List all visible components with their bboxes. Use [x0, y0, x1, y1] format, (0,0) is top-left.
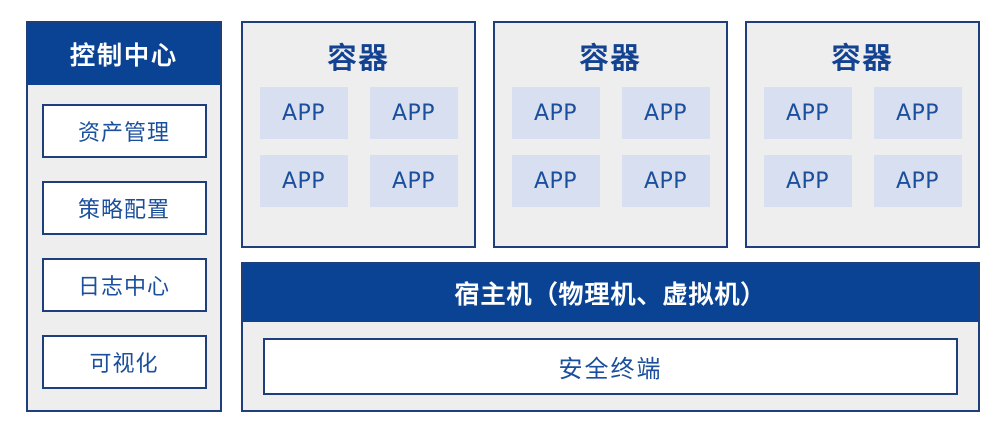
container-box-2: 容器 APP APP APP APP — [493, 21, 728, 248]
control-item-label: 日志中心 — [78, 269, 170, 301]
app-cell[interactable]: APP — [764, 155, 852, 207]
security-terminal-label: 安全终端 — [559, 349, 663, 384]
app-grid: APP APP APP APP — [260, 87, 458, 207]
app-cell[interactable]: APP — [874, 155, 962, 207]
control-item-visualization[interactable]: 可视化 — [42, 335, 207, 389]
app-cell[interactable]: APP — [764, 87, 852, 139]
host-machine-body: 安全终端 — [243, 322, 978, 410]
container-box-1: 容器 APP APP APP APP — [241, 21, 476, 248]
control-item-asset-management[interactable]: 资产管理 — [42, 104, 207, 158]
app-cell[interactable]: APP — [512, 155, 600, 207]
app-cell[interactable]: APP — [370, 155, 458, 207]
control-center-header: 控制中心 — [28, 23, 220, 85]
app-cell[interactable]: APP — [512, 87, 600, 139]
control-item-label: 可视化 — [89, 346, 158, 378]
app-cell[interactable]: APP — [622, 87, 710, 139]
host-machine-title: 宿主机（物理机、虚拟机） — [243, 264, 978, 322]
app-cell[interactable]: APP — [260, 155, 348, 207]
host-machine-section: 宿主机（物理机、虚拟机） 安全终端 — [241, 262, 980, 412]
app-grid: APP APP APP APP — [764, 87, 962, 207]
control-item-policy-configuration[interactable]: 策略配置 — [42, 181, 207, 235]
control-item-label: 资产管理 — [78, 115, 170, 147]
container-box-3: 容器 APP APP APP APP — [745, 21, 980, 248]
containers-row: 容器 APP APP APP APP 容器 APP APP APP APP — [241, 21, 980, 248]
container-title: 容器 — [831, 35, 893, 77]
control-center-items: 资产管理 策略配置 日志中心 可视化 — [28, 85, 220, 410]
container-title: 容器 — [327, 35, 389, 77]
container-title: 容器 — [579, 35, 641, 77]
app-cell[interactable]: APP — [874, 87, 962, 139]
app-cell[interactable]: APP — [260, 87, 348, 139]
app-grid: APP APP APP APP — [512, 87, 710, 207]
app-cell[interactable]: APP — [370, 87, 458, 139]
control-center-panel: 控制中心 资产管理 策略配置 日志中心 可视化 — [26, 21, 222, 412]
right-section: 容器 APP APP APP APP 容器 APP APP APP APP — [241, 21, 980, 412]
app-cell[interactable]: APP — [622, 155, 710, 207]
security-terminal-box[interactable]: 安全终端 — [263, 338, 958, 395]
architecture-diagram: 控制中心 资产管理 策略配置 日志中心 可视化 容器 APP APP — [0, 0, 1001, 437]
control-item-log-center[interactable]: 日志中心 — [42, 258, 207, 312]
control-item-label: 策略配置 — [78, 192, 170, 224]
